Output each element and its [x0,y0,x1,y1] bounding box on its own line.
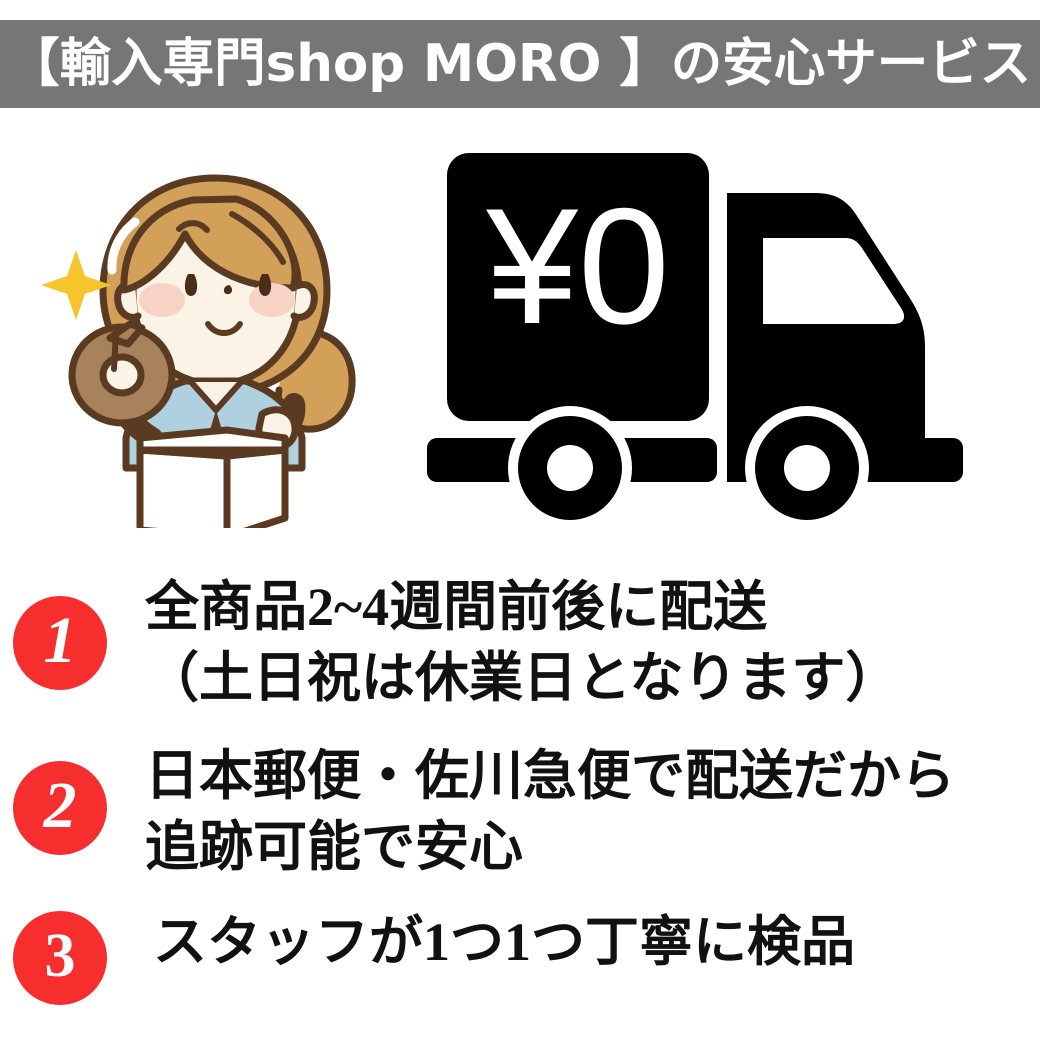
service-text-1: 全商品2~4週間前後に配送 （土日祝は休業日となります） [145,572,1040,715]
service-text-2: 日本郵便・佐川急便で配送だから 追跡可能で安心 [145,741,1040,884]
service-number-badge-1: 1 [13,596,107,690]
page-title: 【輸入専門shop MORO 】の安心サービス [8,38,1031,90]
packing-worker-illustration [40,138,390,528]
service-item-1: 1 全商品2~4週間前後に配送 （土日祝は休業日となります） [0,572,1040,715]
service-number-badge-3: 3 [13,911,107,1005]
service-line: スタッフが1つ1つ丁寧に検品 [153,907,1040,978]
service-line: （土日祝は休業日となります） [145,643,1040,714]
service-number-3: 3 [45,925,76,987]
service-number-1: 1 [44,608,77,674]
service-line: 日本郵便・佐川急便で配送だから [145,741,1040,812]
header-banner: 【輸入専門shop MORO 】の安心サービス [0,20,1040,108]
service-item-3: 3 スタッフが1つ1つ丁寧に検品 [0,907,1040,1005]
service-line: 全商品2~4週間前後に配送 [145,572,1040,643]
service-number-badge-2: 2 [13,761,107,855]
service-number-2: 2 [44,773,77,839]
service-item-2: 2 日本郵便・佐川急便で配送だから 追跡可能で安心 [0,741,1040,884]
shipping-service-infographic: 【輸入専門shop MORO 】の安心サービス [0,0,1040,1040]
free-shipping-truck-icon: ¥0 [415,138,975,528]
service-text-3: スタッフが1つ1つ丁寧に検品 [153,907,1040,978]
illustration-row: ¥0 [0,118,1040,538]
free-shipping-price-label: ¥0 [485,174,670,358]
service-line: 追跡可能で安心 [145,812,1040,883]
sparkle-icon [41,250,111,320]
service-list: 1 全商品2~4週間前後に配送 （土日祝は休業日となります） 2 日本郵便・佐川… [0,548,1040,1005]
